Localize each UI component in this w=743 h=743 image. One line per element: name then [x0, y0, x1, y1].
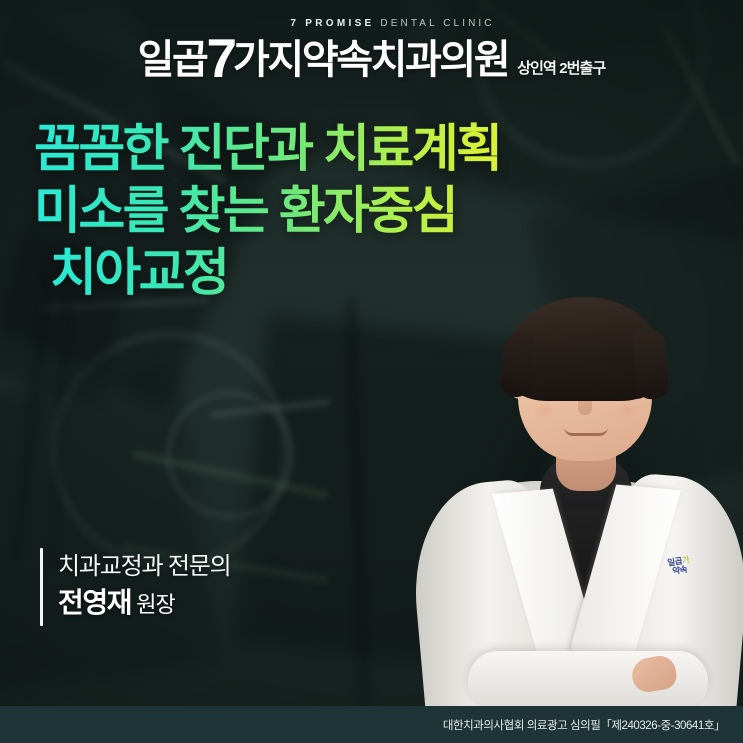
logo-seven-numeral: 7: [206, 27, 233, 89]
clinic-logo-header: 7 PROMISE DENTAL CLINIC 일곱7가지약속치과의원 상인역 …: [0, 0, 743, 100]
badge-text-line2: 약속: [672, 564, 688, 576]
doctor-name-text: 전영재: [58, 587, 131, 618]
footer-bar: 대한치과의사협회 의료광고 심의필「제240326-중-30641호」: [0, 706, 743, 743]
hair-side-left: [499, 332, 534, 398]
doctor-portrait: 일곱가약속: [420, 285, 743, 708]
dental-clinic-ad-poster: 7 PROMISE DENTAL CLINIC 일곱7가지약속치과의원 상인역 …: [0, 0, 743, 743]
headline-line-1: 꼼꼼한 진단과 치료계획: [34, 118, 500, 180]
doctor-specialty-label: 치과교정과 전문의: [58, 550, 231, 584]
logo-text-part1: 일곱: [138, 38, 207, 82]
logo-text-part2: 가지약속치과의원: [233, 38, 508, 82]
clinic-name-logo: 일곱7가지약속치과의원: [138, 27, 509, 82]
doctor-title-suffix: 원장: [131, 592, 175, 617]
clinic-location-label: 상인역 2번출구: [517, 57, 605, 78]
logo-row: 일곱7가지약속치과의원 상인역 2번출구: [138, 27, 606, 82]
headline-line-2: 미소를 찾는 환자중심: [34, 180, 500, 242]
mouth-smile: [564, 427, 608, 436]
coat-embroidered-logo: 일곱가약속: [661, 555, 699, 590]
doctor-credit-block: 치과교정과 전문의 전영재 원장: [40, 548, 231, 626]
cheek-right: [614, 403, 640, 419]
credit-text-group: 치과교정과 전문의 전영재 원장: [58, 548, 231, 626]
credit-accent-bar: [40, 548, 43, 626]
ad-approval-notice: 대한치과의사협회 의료광고 심의필「제240326-중-30641호」: [443, 717, 743, 733]
cheek-left: [532, 403, 558, 419]
headline-block: 꼼꼼한 진단과 치료계획 미소를 찾는 환자중심 치아교정: [34, 118, 500, 304]
headline-line-3: 치아교정: [50, 242, 500, 304]
doctor-name-label: 전영재 원장: [58, 584, 231, 624]
hair-side-right: [632, 328, 670, 401]
